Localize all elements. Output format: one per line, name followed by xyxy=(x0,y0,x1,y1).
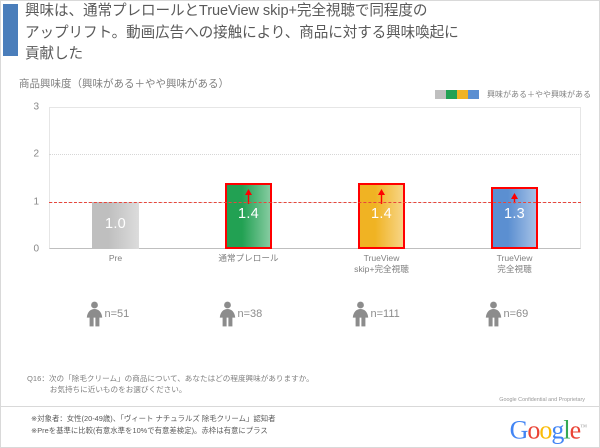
google-logo-tm: ™ xyxy=(580,423,587,431)
google-logo: Google™ xyxy=(510,413,587,445)
x-axis-label-3: TrueView 完全視聴 xyxy=(448,253,581,275)
bar-value-label-3: 1.3 xyxy=(493,206,536,222)
legend-swatch-1 xyxy=(446,90,457,99)
sample-size-group-0: n=51 xyxy=(86,301,130,327)
bar-2: 1.4 xyxy=(358,183,405,249)
chart-legend: 興味がある＋やや興味がある xyxy=(435,89,591,100)
person-female-icon xyxy=(352,301,369,327)
bar-0: 1.0 xyxy=(92,202,139,249)
y-tick-label-2: 2 xyxy=(33,149,39,160)
footer-divider xyxy=(1,406,600,407)
legend-swatch-group xyxy=(435,90,479,99)
legend-label: 興味がある＋やや興味がある xyxy=(487,89,591,100)
bar-chart: 0123 1.01.41.41.3 xyxy=(49,107,581,249)
sample-size-group-1: n=38 xyxy=(219,301,263,327)
google-logo-letter-5: e xyxy=(570,416,581,445)
y-tick-label-1: 1 xyxy=(33,196,39,207)
bar-value-label-1: 1.4 xyxy=(227,206,270,222)
footer-note: ※対象者：女性(20-49歳)、「ヴィート ナチュラルズ 除毛クリーム」認知者 … xyxy=(31,413,276,436)
page-title: 興味は、通常プレロールとTrueView skip+完全視聴で同程度の アップリ… xyxy=(25,1,585,66)
x-axis-labels: Pre通常プレロールTrueView skip+完全視聴TrueView 完全視… xyxy=(49,253,581,283)
sample-size-group-3: n=69 xyxy=(485,301,529,327)
gridline-2 xyxy=(49,154,581,155)
bar-value-label-2: 1.4 xyxy=(360,206,403,222)
google-logo-letter-1: o xyxy=(527,416,539,445)
x-axis-label-1: 通常プレロール xyxy=(182,253,315,264)
slide-canvas: 興味は、通常プレロールとTrueView skip+完全視聴で同程度の アップリ… xyxy=(0,0,600,448)
legend-swatch-2 xyxy=(457,90,468,99)
sample-size-label-1: n=38 xyxy=(238,308,263,320)
uplift-arrow-1 xyxy=(227,187,274,208)
legend-swatch-0 xyxy=(435,90,446,99)
google-logo-letter-0: G xyxy=(510,416,528,445)
y-axis: 0123 xyxy=(5,107,45,249)
reference-line xyxy=(49,202,581,203)
uplift-arrow-2 xyxy=(360,187,407,208)
chart-subtitle: 商品興味度（興味がある＋やや興味がある） xyxy=(19,76,229,91)
bar-value-label-0: 1.0 xyxy=(92,216,139,232)
x-axis-label-0: Pre xyxy=(49,253,182,264)
y-tick-label-0: 0 xyxy=(33,244,39,255)
y-tick-label-3: 3 xyxy=(33,102,39,113)
bar-3: 1.3 xyxy=(491,187,538,249)
sample-size-label-3: n=69 xyxy=(504,308,529,320)
sample-size-label-2: n=111 xyxy=(371,308,400,320)
sample-size-label-0: n=51 xyxy=(105,308,130,320)
google-logo-letter-2: o xyxy=(539,416,551,445)
legend-swatch-3 xyxy=(468,90,479,99)
google-logo-letter-3: g xyxy=(551,416,563,445)
x-axis-label-2: TrueView skip+完全視聴 xyxy=(315,253,448,275)
person-female-icon xyxy=(219,301,236,327)
bar-1: 1.4 xyxy=(225,183,272,249)
sample-size-row: n=51n=38n=111n=69 xyxy=(49,301,581,341)
person-female-icon xyxy=(485,301,502,327)
confidential-notice: Google Confidential and Proprietary xyxy=(499,397,585,403)
question-note: Q16：次の「除毛クリーム」の商品について、あなたはどの程度興味がありますか。 … xyxy=(27,373,314,395)
sample-size-group-2: n=111 xyxy=(352,301,400,327)
title-accent-bar xyxy=(3,4,18,56)
person-female-icon xyxy=(86,301,103,327)
